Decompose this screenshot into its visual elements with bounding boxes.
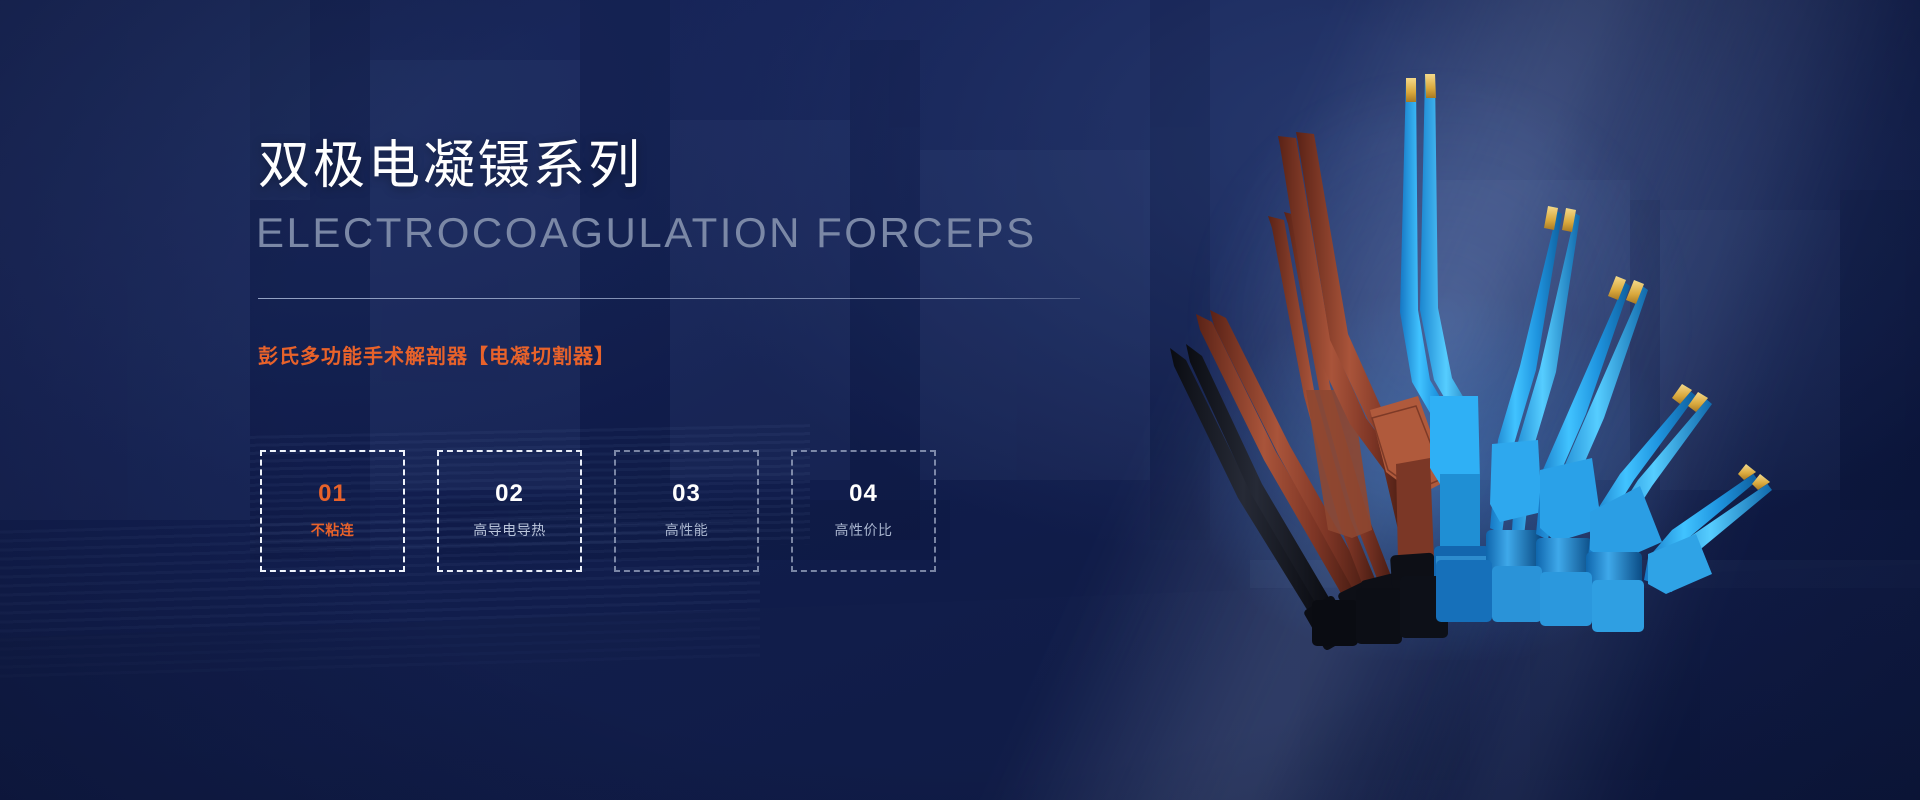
banner-stage: 双极电凝镊系列 ELECTROCOAGULATION FORCEPS 彭氏多功能… [0, 0, 1920, 800]
feature-number: 04 [849, 482, 878, 506]
divider [258, 298, 1080, 299]
page-subtitle-en: ELECTROCOAGULATION FORCEPS [256, 212, 1037, 254]
feature-label: 高性价比 [835, 520, 893, 540]
forceps-fan-icon [1100, 60, 1780, 660]
feature-number: 02 [495, 482, 524, 506]
product-subtitle: 彭氏多功能手术解剖器【电凝切割器】 [258, 340, 615, 369]
feature-item-01[interactable]: 01 不粘连 [260, 450, 405, 572]
product-image [1100, 60, 1780, 660]
feature-item-04[interactable]: 04 高性价比 [791, 450, 936, 572]
feature-item-03[interactable]: 03 高性能 [614, 450, 759, 572]
feature-number: 01 [318, 482, 347, 506]
feature-item-02[interactable]: 02 高导电导热 [437, 450, 582, 572]
feature-label: 高性能 [665, 520, 709, 540]
feature-number: 03 [672, 482, 701, 506]
banner-content: 双极电凝镊系列 ELECTROCOAGULATION FORCEPS 彭氏多功能… [0, 0, 1100, 800]
page-title: 双极电凝镊系列 [258, 140, 643, 192]
feature-label: 不粘连 [311, 520, 355, 540]
feature-list: 01 不粘连 02 高导电导热 03 高性能 04 高性价比 [260, 450, 936, 572]
feature-label: 高导电导热 [473, 520, 546, 540]
